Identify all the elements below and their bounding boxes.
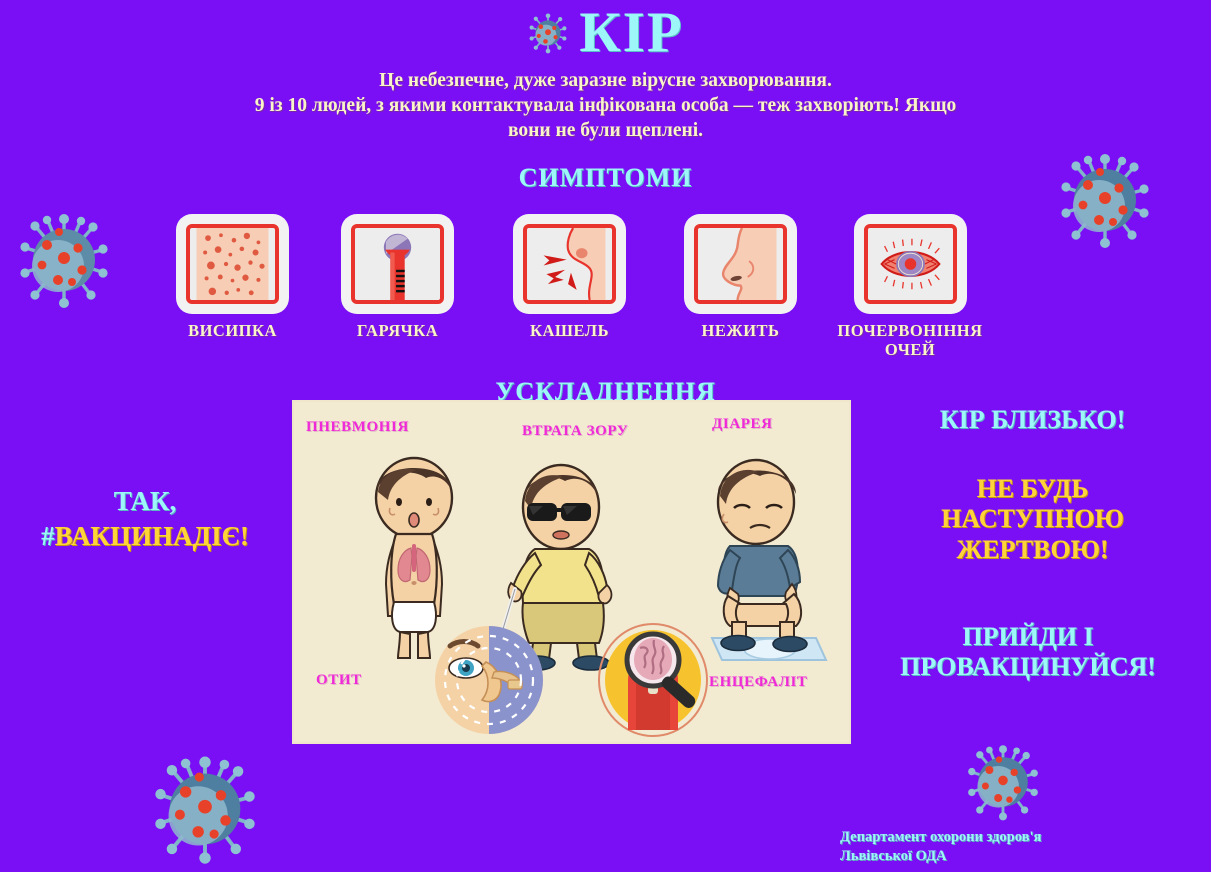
slogan-measles-near: КІР БЛИЗЬКО!: [860, 405, 1205, 435]
slogan-come-vaccinate: ПРИЙДИ І ПРОВАКЦИНУЙСЯ!: [845, 622, 1211, 683]
symptom-card: [858, 218, 963, 310]
symptom-rash: ВИСИПКА: [180, 218, 285, 340]
virus-icon: [963, 742, 1043, 822]
symptom-fever: ГАРЯЧКА: [345, 218, 450, 340]
symptom-label: ПОЧЕРВОНІННЯ ОЧЕЙ: [830, 321, 990, 359]
symptom-label: ГАРЯЧКА: [345, 321, 450, 340]
brain-magnifier-figure: [594, 620, 712, 738]
slogan-come-line-2: ПРОВАКЦИНУЙСЯ!: [845, 652, 1211, 682]
thermometer-icon: [355, 228, 440, 300]
footer-line-1: Департамент охорони здоров'я: [840, 828, 1211, 847]
symptom-label-line-2: ОЧЕЙ: [885, 340, 935, 359]
slogan-victim-line-1: НЕ БУДЬ: [860, 474, 1205, 504]
ear-infection-figure: [434, 620, 544, 738]
virus-icon: [148, 752, 262, 866]
slogan-left-line-1: ТАК,: [0, 486, 290, 518]
symptom-runny-nose: НЕЖИТЬ: [688, 218, 793, 340]
symptom-red-eye: ПОЧЕРВОНІННЯ ОЧЕЙ: [830, 218, 990, 359]
footer-line-2: Львівської ОДА: [840, 847, 1211, 866]
slogan-victim-line-3: ЖЕРТВОЮ!: [860, 535, 1205, 565]
intro-line-2: 9 із 10 людей, з якими контактувала інфі…: [76, 93, 1136, 118]
slogan-victim-line-2: НАСТУПНОЮ: [860, 504, 1205, 534]
symptoms-heading: СИМПТОМИ: [0, 163, 1211, 193]
page-title: КІР: [0, 4, 1211, 61]
symptom-label: КАШЕЛЬ: [517, 321, 622, 340]
virus-icon: [527, 12, 569, 54]
slogan-come-line-1: ПРИЙДИ І: [845, 622, 1211, 652]
symptom-cough: КАШЕЛЬ: [517, 218, 622, 340]
poster-canvas: КІР Це небезпечне, дуже заразне вірусне …: [0, 0, 1211, 872]
symptom-card: [180, 218, 285, 310]
symptom-label-line-1: ПОЧЕРВОНІННЯ: [837, 321, 982, 340]
slogan-vaccine-works: ТАК, #ВАКЦИНАДІЄ!: [0, 486, 290, 552]
symptom-card: [345, 218, 450, 310]
symptom-label: НЕЖИТЬ: [688, 321, 793, 340]
intro-line-1: Це небезпечне, дуже заразне вірусне захв…: [76, 68, 1136, 93]
complications-panel: ПНЕВМОНІЯ ВТРАТА ЗОРУ ДІАРЕЯ ОТИТ ЕНЦЕФА…: [292, 400, 851, 744]
hashtag-text: ВАКЦИНАДІЄ!: [55, 521, 249, 551]
complication-label-diarrhea: ДІАРЕЯ: [712, 416, 773, 433]
symptoms-row: ВИСИПКА: [0, 218, 1211, 383]
slogan-next-victim: НЕ БУДЬ НАСТУПНОЮ ЖЕРТВОЮ!: [860, 474, 1205, 565]
slogan-left-line-2: #ВАКЦИНАДІЄ!: [0, 521, 290, 553]
red-eye-icon: [868, 228, 953, 300]
hashtag-symbol: #: [41, 521, 55, 551]
page-title-text: КІР: [579, 4, 683, 61]
symptom-label: ВИСИПКА: [180, 321, 285, 340]
child-on-toilet-figure: [694, 454, 834, 669]
rash-icon: [190, 228, 275, 300]
symptom-card: [688, 218, 793, 310]
symptom-card: [517, 218, 622, 310]
intro-line-3: вони не були щеплені.: [76, 118, 1136, 143]
cough-icon: [527, 228, 612, 300]
complication-label-pneumonia: ПНЕВМОНІЯ: [306, 419, 409, 436]
footer-attribution: Департамент охорони здоров'я Львівської …: [840, 828, 1211, 866]
runny-nose-icon: [698, 228, 783, 300]
complication-label-encephalitis: ЕНЦЕФАЛІТ: [709, 674, 808, 691]
complication-label-otitis: ОТИТ: [316, 672, 362, 689]
complication-label-vision-loss: ВТРАТА ЗОРУ: [522, 423, 628, 440]
intro-paragraph: Це небезпечне, дуже заразне вірусне захв…: [76, 68, 1136, 143]
